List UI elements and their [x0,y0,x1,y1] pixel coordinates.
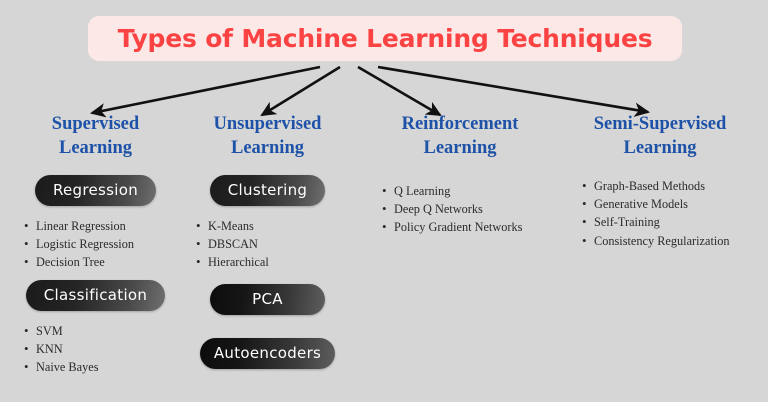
list-item: Decision Tree [26,253,183,271]
heading-line-2: Learning [360,137,560,161]
list-reinforcement: Q Learning Deep Q Networks Policy Gradie… [360,182,560,236]
pill-wrap-regression: Regression [8,175,183,206]
list-item: Naive Bayes [26,358,183,376]
column-heading-unsupervised: Unsupervised Learning [180,113,355,160]
heading-line-2: Learning [180,137,355,161]
pill-clustering[interactable]: Clustering [210,175,325,206]
pill-wrap-autoencoders: Autoencoders [180,338,355,369]
group-clustering: Clustering K-Means DBSCAN Hierarchical [180,175,355,271]
list-classification: SVM KNN Naive Bayes [8,322,183,376]
list-item: Q Learning [384,182,560,200]
list-item: SVM [26,322,183,340]
list-semi-supervised: Graph-Based Methods Generative Models Se… [560,177,734,249]
column-heading-supervised: Supervised Learning [8,113,183,160]
column-unsupervised: Unsupervised Learning Clustering K-Means… [180,113,355,160]
pill-wrap-clustering: Clustering [180,175,355,206]
list-item: Deep Q Networks [384,200,560,218]
list-item: Graph-Based Methods [584,177,734,195]
list-item: Logistic Regression [26,235,183,253]
list-item: DBSCAN [198,235,355,253]
column-supervised: Supervised Learning Regression Linear Re… [8,113,183,160]
heading-line-2: Learning [8,137,183,161]
list-item: K-Means [198,217,355,235]
column-heading-reinforcement: Reinforcement Learning [360,113,560,160]
arrow-to-semi-supervised [378,67,648,112]
list-item: Linear Regression [26,217,183,235]
arrow-to-supervised [92,67,320,113]
list-item: Self-Training [584,213,734,231]
group-classification: Classification SVM KNN Naive Bayes [8,280,183,376]
pill-regression[interactable]: Regression [35,175,156,206]
list-item: Hierarchical [198,253,355,271]
heading-line-2: Learning [560,137,760,161]
heading-line-1: Unsupervised [180,113,355,137]
list-item: Consistency Regularization [584,232,734,250]
arrow-to-reinforcement [358,67,440,115]
heading-line-1: Semi-Supervised [560,113,760,137]
title-banner: Types of Machine Learning Techniques [88,16,682,61]
pill-classification[interactable]: Classification [26,280,165,311]
page-title: Types of Machine Learning Techniques [118,24,653,53]
pill-autoencoders[interactable]: Autoencoders [200,338,335,369]
arrow-to-unsupervised [262,67,340,115]
pill-wrap-classification: Classification [8,280,183,311]
column-heading-semi-supervised: Semi-Supervised Learning [560,113,760,160]
diagram-canvas: Types of Machine Learning Techniques Sup… [0,0,768,402]
pill-pca[interactable]: PCA [210,284,325,315]
column-reinforcement: Reinforcement Learning Q Learning Deep Q… [360,113,560,237]
heading-line-1: Supervised [8,113,183,137]
list-item: Policy Gradient Networks [384,218,560,236]
list-item: Generative Models [584,195,734,213]
column-semi-supervised: Semi-Supervised Learning Graph-Based Met… [560,113,760,250]
group-regression: Regression Linear Regression Logistic Re… [8,175,183,271]
list-item: KNN [26,340,183,358]
list-regression: Linear Regression Logistic Regression De… [8,217,183,271]
pill-wrap-pca: PCA [180,284,355,315]
heading-line-1: Reinforcement [360,113,560,137]
list-clustering: K-Means DBSCAN Hierarchical [180,217,355,271]
